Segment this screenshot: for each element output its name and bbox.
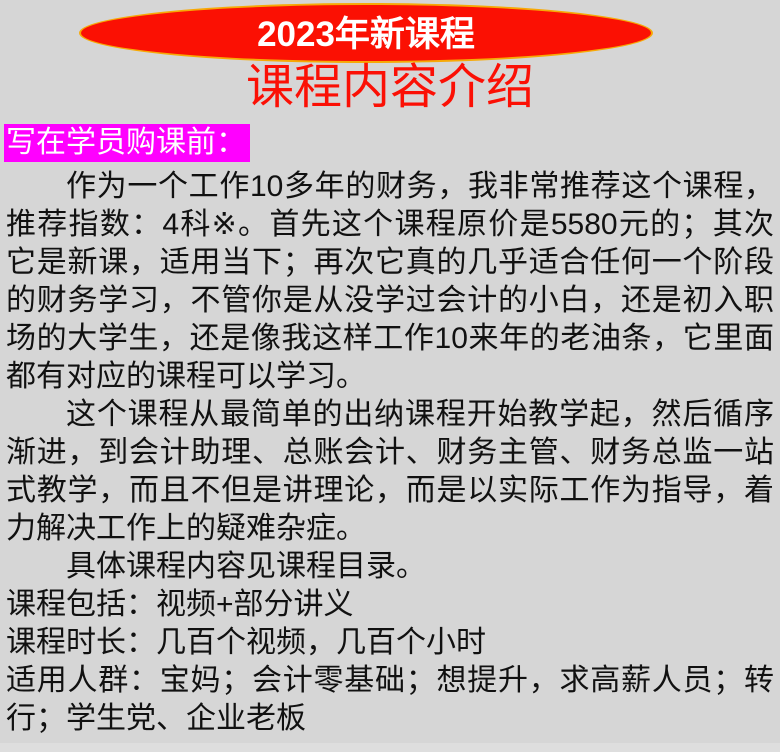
body-paragraph: 这个课程从最简单的出纳课程开始教学起，然后循序渐进，到会计助理、总账会计、财务主… xyxy=(6,396,774,548)
body-paragraph: 具体课程内容见课程目录。 xyxy=(6,548,774,586)
bottom-band xyxy=(0,743,780,752)
body-text-block: 作为一个工作10多年的财务，我非常推荐这个课程，推荐指数：4科※。首先这个课程原… xyxy=(6,168,774,738)
highlight-heading: 写在学员购课前： xyxy=(4,124,250,162)
body-paragraph: 适用人群：宝妈；会计零基础；想提升，求高薪人员；转行；学生党、企业老板 xyxy=(6,662,774,738)
banner-ellipse: 2023年新课程 xyxy=(79,3,653,63)
body-paragraph: 作为一个工作10多年的财务，我非常推荐这个课程，推荐指数：4科※。首先这个课程原… xyxy=(6,168,774,396)
page-subtitle: 课程内容介绍 xyxy=(0,63,780,113)
banner-title: 2023年新课程 xyxy=(257,17,475,52)
body-paragraph: 课程包括：视频+部分讲义 xyxy=(6,586,774,624)
body-paragraph: 课程时长：几百个视频，几百个小时 xyxy=(6,624,774,662)
banner-region: 2023年新课程 xyxy=(0,0,780,66)
highlight-heading-row: 写在学员购课前： xyxy=(4,124,250,162)
course-intro-poster: 2023年新课程 课程内容介绍 写在学员购课前： 作为一个工作10多年的财务，我… xyxy=(0,0,780,752)
